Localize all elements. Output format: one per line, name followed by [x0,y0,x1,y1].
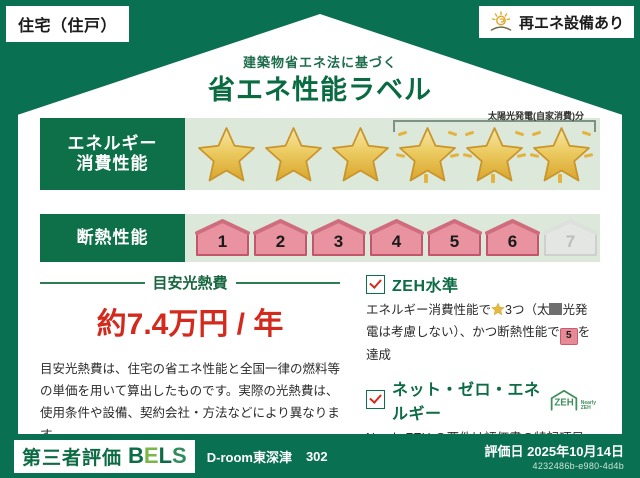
star-icon [463,124,526,184]
star-icon [329,124,392,184]
insulation-level-badge: 6 [485,219,540,257]
utility-cost-heading-label: 目安光熱費 [153,272,228,293]
bels-logo: BELS [128,443,187,469]
zeh-house-icon: ZEH [549,388,579,412]
net-zero-head: ネット・ゼロ・エネルギー ZEH Nearly [366,376,596,424]
evaluation-meta: 評価日 2025年10月14日 4232486b-e980-4d4b [485,441,624,471]
bels-letter-b: B [128,443,144,468]
energy-performance-value: 太陽光発電(自家消費)分 [185,118,600,190]
renewable-equipment-label: 再エネ設備あり [519,12,624,33]
evaluation-date: 評価日 2025年10月14日 [485,441,624,460]
check-icon [366,390,385,409]
star-rating [185,124,600,184]
inline-insulation-badge: 5 [560,328,578,345]
insulation-level-badge: 3 [311,219,366,257]
svg-text:ZEH: ZEH [554,397,573,408]
energy-label-line2: 消費性能 [77,154,149,174]
insulation-level-badge: 7 [543,219,598,257]
star-icon [396,124,459,184]
insulation-level-scale: 1234567 [185,219,598,257]
property-name: D-room東深津 [207,447,292,466]
sun-icon [489,11,513,33]
utility-cost-heading: 目安光熱費 [40,272,340,293]
zeh-text-1: エネルギー消費性能で [366,303,491,317]
net-zero-title: ネット・ゼロ・エネルギー [392,376,542,424]
insulation-level-number: 5 [450,232,459,257]
zeh-level-block: ZEH水準 エネルギー消費性能で3つ（太光発電は考慮しない）、かつ断熱性能で5を… [366,272,596,366]
solar-note-label: 太陽光発電(自家消費)分 [488,109,584,122]
zeh-level-body: エネルギー消費性能で3つ（太光発電は考慮しない）、かつ断熱性能で5を達成 [366,300,596,366]
sparkle-mark [491,174,495,183]
renewable-equipment-badge: 再エネ設備あり [479,6,634,38]
insulation-level-number: 1 [218,232,227,257]
sparkle-mark [558,174,562,183]
insulation-level-number: 6 [508,232,517,257]
redacted-char [549,303,562,315]
bels-letter-e: E [144,443,159,468]
bels-letter-l: L [159,443,172,468]
insulation-level-badge: 5 [427,219,482,257]
bels-letter-s: S [172,443,187,468]
insulation-level-number: 2 [276,232,285,257]
insulation-level-badge: 2 [253,219,308,257]
zeh-logo: ZEH Nearly ZEH [549,388,596,412]
check-icon [366,275,385,294]
building-type-badge: 住宅（住戸） [6,6,129,42]
star-icon [195,124,258,184]
star-icon [262,124,325,184]
zeh-text-2: 3つ（太 [505,303,549,317]
energy-performance-label: エネルギー 消費性能 [40,118,185,190]
utility-cost-amount: 約7.4万円 / 年 [40,299,340,343]
insulation-level-badge: 1 [195,219,250,257]
energy-label-line1: エネルギー [68,134,158,154]
zeh-logo-subtext: Nearly ZEH [581,401,596,412]
zeh-level-head: ZEH水準 [366,272,596,296]
insulation-performance-label: 断熱性能 [40,214,185,262]
sparkle-mark [424,174,428,183]
label-panel: 建築物省エネ法に基づく 省エネ性能ラベル エネルギー 消費性能 太陽光発電(自家… [18,14,622,434]
bels-badge: 第三者評価 BELS [14,440,195,473]
star-icon [530,124,593,184]
footer-bar: 第三者評価 BELS D-room東深津 302 評価日 2025年10月14日… [0,434,640,478]
energy-label-root: 住宅（住戸） 再エネ設備あり 建築物省エネ法に基づく 省エネ性能ラベル [0,0,640,478]
zeh-level-title: ZEH水準 [392,272,459,296]
insulation-level-number: 3 [334,232,343,257]
insulation-performance-row: 断熱性能 1234567 [40,214,600,262]
insulation-level-number: 7 [566,232,575,257]
third-party-eval-label: 第三者評価 [22,443,122,470]
evaluation-id: 4232486b-e980-4d4b [485,461,624,471]
rule-right [236,282,341,284]
energy-performance-row: エネルギー 消費性能 太陽光発電(自家消費)分 [40,118,600,190]
rule-left [40,282,145,284]
unit-number: 302 [306,449,328,464]
insulation-level-number: 4 [392,232,401,257]
page-title: 省エネ性能ラベル [18,68,622,107]
building-type-label: 住宅（住戸） [18,12,117,36]
utility-cost-block: 目安光熱費 約7.4万円 / 年 目安光熱費は、住宅の省エネ性能と全国一律の燃料… [40,272,340,447]
insulation-level-badge: 4 [369,219,424,257]
insulation-performance-value: 1234567 [185,214,600,262]
zeh-sub-2: ZEH [581,405,591,411]
insulation-label-line1: 断熱性能 [77,228,149,248]
inline-star-icon [491,302,505,322]
